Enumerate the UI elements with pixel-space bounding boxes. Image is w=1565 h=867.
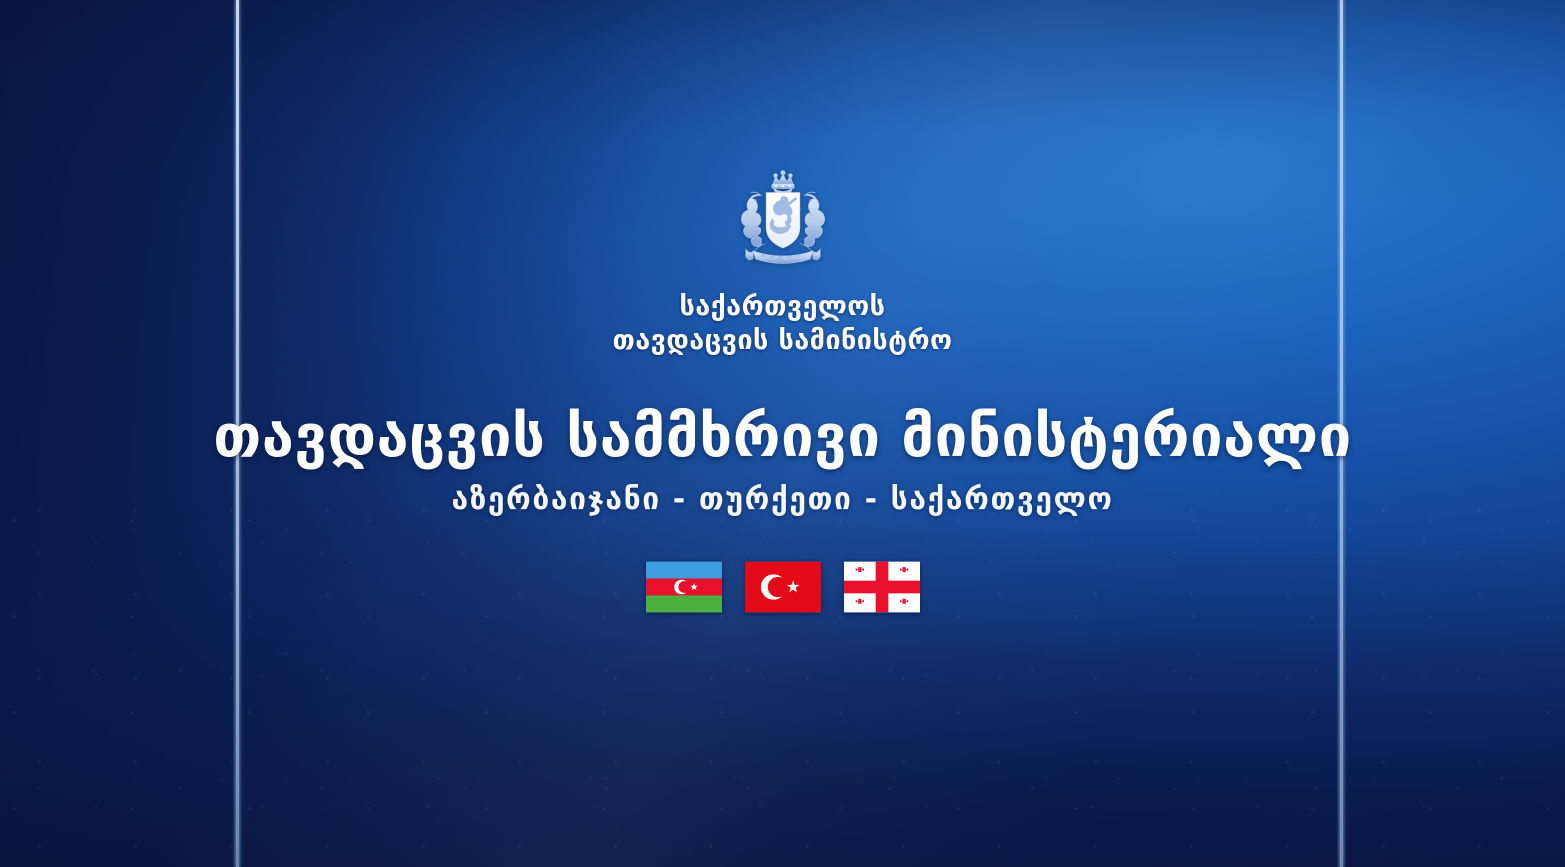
flag-row	[646, 561, 920, 613]
event-title: თავდაცვის სამმხრივი მინისტერიალი	[213, 406, 1352, 467]
backdrop-content: საქართველოს თავდაცვის სამინისტრო თავდაცვ…	[193, 0, 1373, 867]
azerbaijan-flag	[646, 561, 722, 613]
ministry-name: საქართველოს თავდაცვის სამინისტრო	[613, 290, 953, 358]
ministry-name-line-1: საქართველოს	[613, 290, 953, 324]
backdrop-stage: საქართველოს თავდაცვის სამინისტრო თავდაცვ…	[0, 0, 1565, 867]
turkey-flag	[745, 561, 821, 613]
ministry-name-line-2: თავდაცვის სამინისტრო	[613, 324, 953, 358]
event-subtitle: აზერბაიჯანი - თურქეთი - საქართველო	[451, 482, 1113, 517]
coat-of-arms-of-georgia-icon	[721, 158, 845, 282]
georgia-flag	[844, 561, 920, 613]
